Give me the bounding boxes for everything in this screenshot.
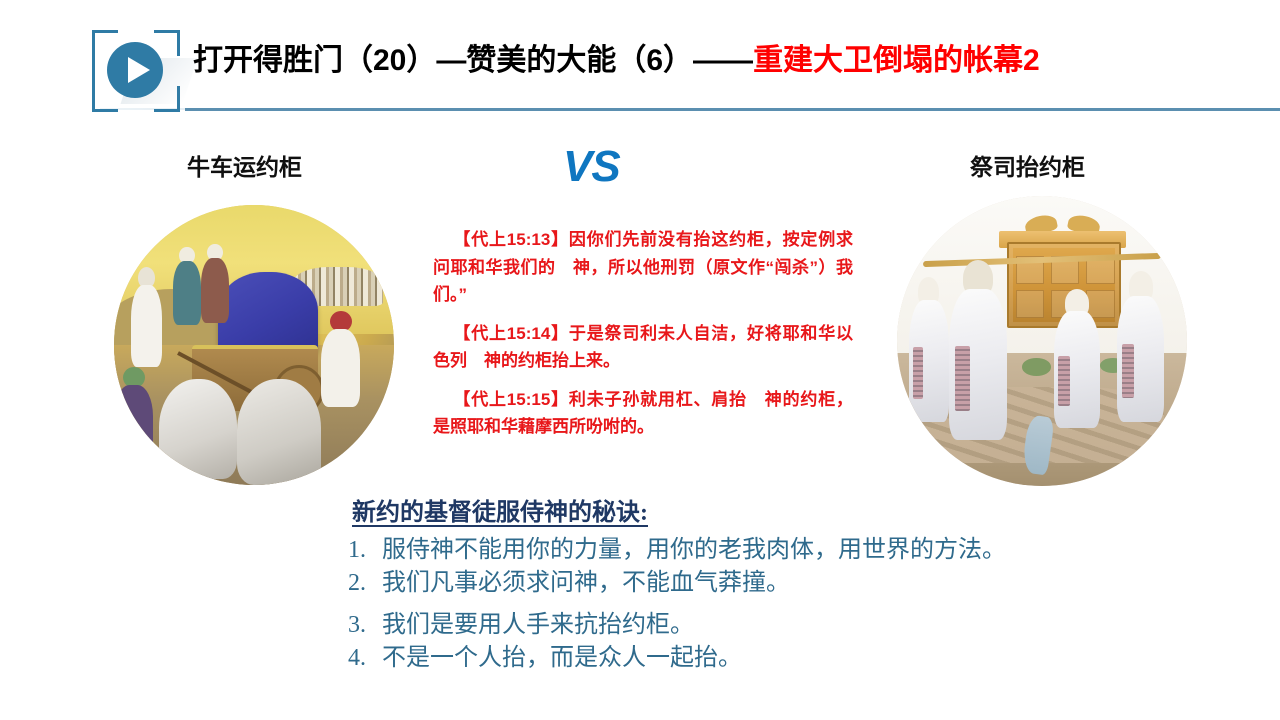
list-item: 1. 服侍神不能用你的力量，用你的老我肉体，用世界的方法。 [348,538,1178,562]
picture-figure [114,367,153,462]
picture-figure [321,311,360,406]
picture-priest [909,277,950,422]
list-item: 3. 我们是要用人手来抗抬约柜。 [348,613,1178,637]
teaching-heading: 新约的基督徒服侍神的秘诀: [352,492,648,527]
play-button-icon[interactable] [107,42,163,98]
figure-robe [114,385,153,463]
picture-priest [949,260,1007,440]
slide: 打开得胜门（20）—赞美的大能（6）——重建大卫倒塌的帐幕2 牛车运约柜 VS … [0,0,1280,720]
list-item-label: 我们凡事必须求问神，不能血气莽撞。 [382,571,1178,595]
list-item-number: 4. [348,646,382,670]
ox-cart-image [114,205,394,485]
priest-sash [913,347,924,399]
figure-robe [321,329,360,407]
figure-robe [173,261,201,325]
scripture-block: 【代上15:13】因你们先前没有抬这约柜，按定例求问耶和华我们的 神，所以他刑罚… [433,226,853,441]
left-column-label: 牛车运约柜 [187,148,302,182]
list-item: 2. 我们凡事必须求问神，不能血气莽撞。 [348,571,1178,595]
list-item-label: 不是一个人抬，而是众人一起抬。 [382,646,1178,670]
figure-robe [131,285,162,368]
right-column-label: 祭司抬约柜 [970,148,1085,182]
frame-corner-top-left-h [92,30,118,33]
teaching-points-list: 1. 服侍神不能用你的力量，用你的老我肉体，用世界的方法。 2. 我们凡事必须求… [348,538,1178,679]
list-item-label: 服侍神不能用你的力量，用你的老我肉体，用世界的方法。 [382,538,1178,562]
priest-sash [955,346,970,411]
list-item-label: 我们是要用人手来抗抬约柜。 [382,613,1178,637]
priest-sash [1122,344,1134,398]
header-divider [185,108,1280,111]
ark-panel [1016,290,1044,318]
picture-figure [131,267,162,368]
frame-corner-bottom-left-h [92,109,118,112]
picture-figure [173,247,201,325]
figure-robe [201,258,229,322]
scripture-verse: 【代上15:15】利未子孙就用杠、肩抬 神的约柜，是照耶和华藉摩西所吩咐的。 [433,386,853,441]
vs-label: VS [563,142,620,192]
frame-corner-bottom-right-v [177,86,180,112]
scripture-verse: 【代上15:13】因你们先前没有抬这约柜，按定例求问耶和华我们的 神，所以他刑罚… [433,226,853,309]
frame-edge-left-v [92,30,95,112]
picture-ox-right [237,379,321,485]
priest-sash [1058,356,1070,406]
priests-carrying-ark-image [897,196,1187,486]
frame-corner-top-right-v [177,30,180,56]
list-item-number: 1. [348,538,382,562]
picture-blue-cloth [218,272,319,356]
list-item: 4. 不是一个人抬，而是众人一起抬。 [348,646,1178,670]
page-title: 打开得胜门（20）—赞美的大能（6）——重建大卫倒塌的帐幕2 [193,44,1040,77]
picture-figure [201,244,229,322]
picture-priest [1054,289,1100,428]
picture-bush [1022,358,1051,375]
page-title-main: 打开得胜门（20）—赞美的大能（6）—— [193,44,753,77]
page-title-accent: 重建大卫倒塌的帐幕2 [753,44,1040,77]
list-item-number: 3. [348,613,382,637]
list-item-number: 2. [348,571,382,595]
picture-priest [1117,271,1163,422]
picture-ox-left [159,379,237,480]
scripture-verse: 【代上15:14】于是祭司利未人自洁，好将耶和华以色列 神的约柜抬上来。 [433,320,853,375]
play-triangle-icon [128,57,150,83]
